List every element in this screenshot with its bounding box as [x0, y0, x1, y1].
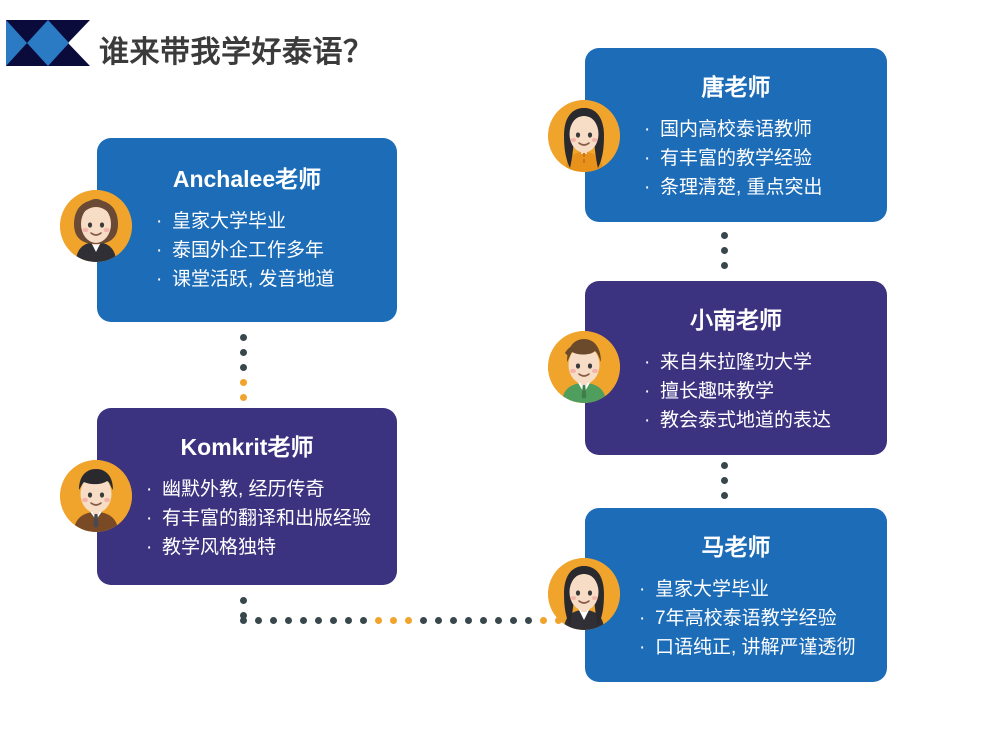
connector-dot — [240, 597, 247, 604]
connector-dot — [240, 334, 247, 341]
connector-dot — [465, 617, 472, 624]
card-title-anchalee: Anchalee老师 — [97, 160, 397, 194]
list-item: ·皇家大学毕业 — [155, 208, 397, 237]
page-title: 谁来带我学好泰语？ — [99, 27, 374, 71]
card-bullets-xiaonan: ·来自朱拉隆功大学 ·擅长趣味教学 ·教会泰式地道的表达 — [643, 349, 887, 436]
list-item: ·条理清楚, 重点突出 — [643, 174, 887, 203]
connector-tang-to-xiaonan — [721, 228, 728, 273]
connector-anchalee-to-komkrit — [240, 330, 247, 420]
connector-dot — [405, 617, 412, 624]
connector-dot — [495, 617, 502, 624]
connector-dot — [721, 477, 728, 484]
connector-dot — [721, 462, 728, 469]
teacher-card-tang[interactable]: 唐老师 ·国内高校泰语教师 ·有丰富的教学经验 ·条理清楚, 重点突出 — [585, 48, 887, 222]
card-title-xiaonan: 小南老师 — [585, 301, 887, 335]
bullet-marker: · — [156, 237, 162, 266]
avatar-tang — [548, 100, 620, 172]
list-item-text: 教会泰式地道的表达 — [660, 410, 831, 431]
connector-dot — [270, 617, 277, 624]
list-item: ·擅长趣味教学 — [643, 378, 887, 407]
list-item: ·国内高校泰语教师 — [643, 116, 887, 145]
card-bullets-tang: ·国内高校泰语教师 ·有丰富的教学经验 ·条理清楚, 重点突出 — [643, 116, 887, 203]
card-bullets-anchalee: ·皇家大学毕业 ·泰国外企工作多年 ·课堂活跃, 发音地道 — [155, 208, 397, 295]
connector-dot — [240, 394, 247, 401]
bullet-marker: · — [639, 634, 645, 663]
connector-dot — [450, 617, 457, 624]
connector-dot — [525, 617, 532, 624]
bullet-marker: · — [644, 407, 650, 436]
connector-dot — [345, 617, 352, 624]
teacher-card-ma[interactable]: 马老师 ·皇家大学毕业 ·7年高校泰语教学经验 ·口语纯正, 讲解严谨透彻 — [585, 508, 887, 682]
connector-dot — [375, 617, 382, 624]
card-bullets-ma: ·皇家大学毕业 ·7年高校泰语教学经验 ·口语纯正, 讲解严谨透彻 — [638, 576, 887, 663]
list-item: ·泰国外企工作多年 — [155, 237, 397, 266]
connector-dot — [255, 617, 262, 624]
bullet-marker: · — [644, 174, 650, 203]
connector-dot — [240, 349, 247, 356]
bullet-marker: · — [146, 505, 152, 534]
connector-dot — [721, 232, 728, 239]
list-item: ·7年高校泰语教学经验 — [638, 605, 887, 634]
connector-dot — [285, 617, 292, 624]
bullet-marker: · — [644, 145, 650, 174]
list-item-text: 皇家大学毕业 — [655, 579, 769, 600]
connector-dot — [390, 617, 397, 624]
connector-dot — [300, 617, 307, 624]
teacher-card-komkrit[interactable]: Komkrit老师 ·幽默外教, 经历传奇 ·有丰富的翻译和出版经验 ·教学风格… — [97, 408, 397, 585]
list-item: ·口语纯正, 讲解严谨透彻 — [638, 634, 887, 663]
avatar-anchalee — [60, 190, 132, 262]
list-item: ·有丰富的翻译和出版经验 — [145, 505, 397, 534]
bullet-marker: · — [146, 534, 152, 563]
connector-dot — [540, 617, 547, 624]
connector-dot — [510, 617, 517, 624]
brand-logo — [6, 20, 90, 66]
card-title-ma: 马老师 — [585, 528, 887, 562]
teacher-card-xiaonan[interactable]: 小南老师 ·来自朱拉隆功大学 ·擅长趣味教学 ·教会泰式地道的表达 — [585, 281, 887, 455]
card-title-tang: 唐老师 — [585, 68, 887, 102]
connector-dot — [435, 617, 442, 624]
connector-dot — [721, 262, 728, 269]
list-item-text: 条理清楚, 重点突出 — [660, 177, 823, 198]
connector-dot — [240, 617, 247, 624]
card-bullets-komkrit: ·幽默外教, 经历传奇 ·有丰富的翻译和出版经验 ·教学风格独特 — [145, 476, 397, 563]
list-item-text: 课堂活跃, 发音地道 — [172, 269, 335, 290]
bullet-marker: · — [644, 349, 650, 378]
bullet-marker: · — [639, 605, 645, 634]
connector-xiaonan-to-ma — [721, 458, 728, 503]
list-item-text: 口语纯正, 讲解严谨透彻 — [655, 637, 856, 658]
connector-dot — [721, 492, 728, 499]
connector-dot — [330, 617, 337, 624]
connector-dot — [480, 617, 487, 624]
list-item-text: 7年高校泰语教学经验 — [655, 608, 837, 629]
bullet-marker: · — [146, 476, 152, 505]
bullet-marker: · — [639, 576, 645, 605]
connector-dot — [315, 617, 322, 624]
bullet-marker: · — [156, 266, 162, 295]
avatar-komkrit — [60, 460, 132, 532]
list-item-text: 国内高校泰语教师 — [660, 119, 812, 140]
bullet-marker: · — [156, 208, 162, 237]
list-item-text: 泰国外企工作多年 — [172, 240, 324, 261]
list-item: ·幽默外教, 经历传奇 — [145, 476, 397, 505]
card-title-komkrit: Komkrit老师 — [97, 428, 397, 462]
list-item-text: 教学风格独特 — [162, 537, 276, 558]
list-item: ·有丰富的教学经验 — [643, 145, 887, 174]
connector-dot — [240, 364, 247, 371]
teacher-card-anchalee[interactable]: Anchalee老师 ·皇家大学毕业 ·泰国外企工作多年 ·课堂活跃, 发音地道 — [97, 138, 397, 322]
list-item-text: 有丰富的翻译和出版经验 — [162, 508, 371, 529]
list-item-text: 皇家大学毕业 — [172, 211, 286, 232]
connector-dot — [721, 247, 728, 254]
connector-dot — [360, 617, 367, 624]
list-item-text: 擅长趣味教学 — [660, 381, 774, 402]
list-item: ·来自朱拉隆功大学 — [643, 349, 887, 378]
list-item-text: 幽默外教, 经历传奇 — [162, 479, 325, 500]
connector-dot — [240, 379, 247, 386]
avatar-ma — [548, 558, 620, 630]
connector-dot — [420, 617, 427, 624]
bullet-marker: · — [644, 116, 650, 145]
list-item: ·教学风格独特 — [145, 534, 397, 563]
list-item: ·课堂活跃, 发音地道 — [155, 266, 397, 295]
list-item-text: 来自朱拉隆功大学 — [660, 352, 812, 373]
avatar-xiaonan — [548, 331, 620, 403]
list-item-text: 有丰富的教学经验 — [660, 148, 812, 169]
list-item: ·教会泰式地道的表达 — [643, 407, 887, 436]
bullet-marker: · — [644, 378, 650, 407]
list-item: ·皇家大学毕业 — [638, 576, 887, 605]
